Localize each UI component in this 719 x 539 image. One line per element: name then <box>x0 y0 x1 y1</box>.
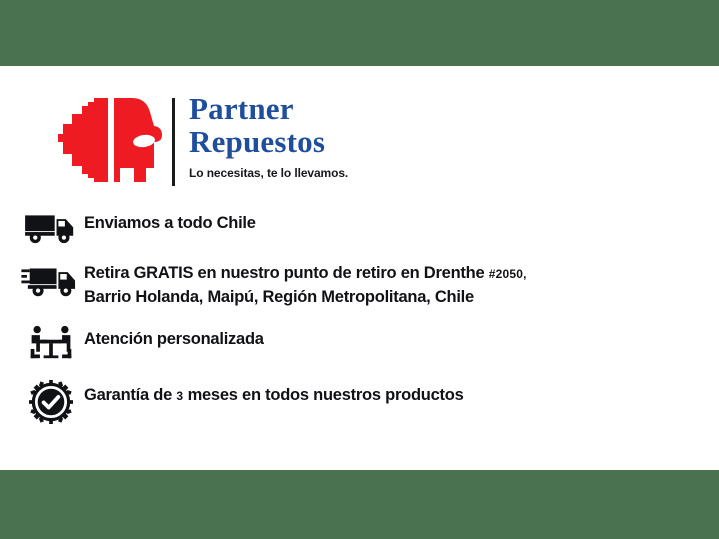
brand-name-line1: Partner <box>189 92 579 125</box>
top-green-band <box>0 0 719 66</box>
truck-icon <box>18 206 84 245</box>
brand-text: Partner Repuestos Lo necesitas, te lo ll… <box>189 92 579 180</box>
feature-row-service: Atención personalizada <box>18 322 708 378</box>
people-at-table-icon <box>18 322 84 361</box>
pickup-street-number: #2050, <box>489 267 527 281</box>
fast-truck-icon <box>18 260 84 299</box>
pickup-text-lead: Retira GRATIS en nuestro punto de retiro… <box>84 264 489 282</box>
promo-banner: Partner Repuestos Lo necesitas, te lo ll… <box>0 0 719 539</box>
gear-car-icon <box>58 94 166 186</box>
guarantee-badge-icon <box>18 378 84 424</box>
feature-text-warranty: Garantía de 3 meses en todos nuestros pr… <box>84 378 708 408</box>
brand-tagline: Lo necesitas, te lo llevamos. <box>189 166 579 180</box>
feature-row-shipping: Enviamos a todo Chile <box>18 206 708 260</box>
brand-logo-block: Partner Repuestos Lo necesitas, te lo ll… <box>58 94 578 190</box>
bottom-green-band <box>0 470 719 539</box>
logo-divider <box>172 98 175 186</box>
feature-list: Enviamos a todo Chile <box>18 206 708 434</box>
warranty-text-lead: Garantía de <box>84 386 176 404</box>
feature-text-service: Atención personalizada <box>84 322 708 351</box>
feature-row-warranty: Garantía de 3 meses en todos nuestros pr… <box>18 378 708 434</box>
warranty-text-tail: meses en todos nuestros productos <box>183 386 463 404</box>
feature-row-pickup: Retira GRATIS en nuestro punto de retiro… <box>18 260 708 322</box>
brand-name-line2: Repuestos <box>189 125 579 158</box>
feature-text-pickup: Retira GRATIS en nuestro punto de retiro… <box>84 260 708 309</box>
feature-text-shipping: Enviamos a todo Chile <box>84 206 708 235</box>
pickup-text-line2: Barrio Holanda, Maipú, Región Metropolit… <box>84 288 474 306</box>
